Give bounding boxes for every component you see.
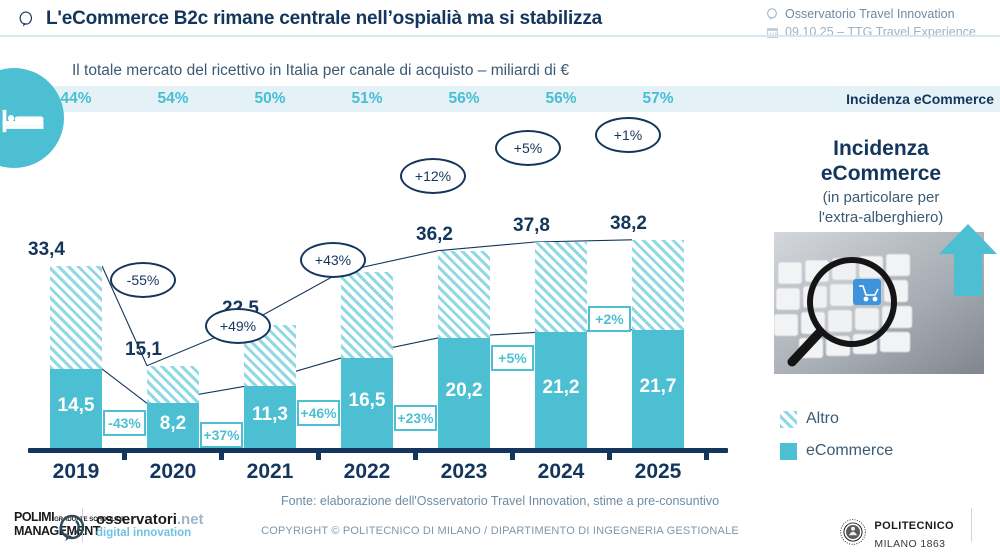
legend-item-ecommerce: eCommerce (780, 442, 893, 460)
bar-segment-altro (535, 242, 587, 332)
ecommerce-label-2023: 20,2 (438, 380, 490, 402)
bar-segment-altro (438, 251, 490, 338)
year-label-2020: 2020 (128, 460, 218, 484)
header: L'eCommerce B2c rimane centrale nell’osp… (0, 0, 1000, 36)
bar-segment-altro (632, 240, 684, 330)
total-growth-callout-2024-2025: +1% (595, 117, 661, 153)
ecommerce-label-2021: 11,3 (244, 404, 296, 426)
incidence-value-2023: 56% (419, 86, 509, 112)
politecnico-logo: POLITECNICO MILANO 1863 (839, 516, 954, 552)
year-label-2019: 2019 (31, 460, 121, 484)
tick-2021 (316, 453, 321, 460)
tick-2022 (413, 453, 418, 460)
right-panel-subtitle-line1: (in particolare per (762, 188, 1000, 208)
right-panel-title: Incidenza eCommerce (762, 136, 1000, 186)
bar-segment-altro (147, 366, 199, 404)
year-label-2023: 2023 (419, 460, 509, 484)
ecommerce-growth-2020-2021: +37% (200, 422, 243, 448)
osservatori-name: osservatori (96, 511, 177, 528)
bar-2020 (147, 366, 199, 448)
ecommerce-growth-2024-2025: +2% (588, 306, 631, 332)
bar-2021 (244, 325, 296, 448)
politecnico-line1: POLITECNICO (874, 520, 954, 532)
ecommerce-label-2025: 21,7 (632, 376, 684, 398)
meta-organization: Osservatorio Travel Innovation (766, 6, 996, 22)
meta-event: 09.10.25 – TTG Travel Experience (766, 24, 996, 40)
speech-bubble-icon (766, 8, 779, 21)
legend-swatch-hatch-icon (780, 411, 797, 428)
bar-2024 (535, 242, 587, 448)
bar-2025 (632, 240, 684, 448)
polimi-logo-line1: POLIMI (14, 510, 54, 524)
year-label-2021: 2021 (225, 460, 315, 484)
politecnico-line2: MILANO 1863 (874, 538, 945, 550)
tick-2019 (122, 453, 127, 460)
tick-2025 (704, 453, 709, 460)
meta-event-label: 09.10.25 – TTG Travel Experience (785, 24, 976, 40)
up-arrow-icon (937, 222, 999, 298)
legend-swatch-solid-icon (780, 443, 797, 460)
year-label-2024: 2024 (516, 460, 606, 484)
bar-segment-altro (341, 272, 393, 358)
bar-segment-altro (50, 266, 102, 369)
ecommerce-growth-2022-2023: +23% (394, 405, 437, 431)
ecommerce-growth-2019-2020: -43% (103, 410, 146, 436)
total-growth-callout-2019-2020: -55% (110, 262, 176, 298)
ecommerce-growth-2021-2022: +46% (297, 400, 340, 426)
bar-chart: 33,414,515,18,222,511,332,316,536,220,23… (0, 110, 760, 460)
chart-subtitle: Il totale mercato del ricettivo in Itali… (72, 62, 569, 80)
politecnico-seal-icon (839, 518, 867, 551)
tick-2020 (219, 453, 224, 460)
osservatori-net-suffix: .net (177, 511, 204, 528)
tick-2024 (607, 453, 612, 460)
right-panel-title-line1: Incidenza (762, 136, 1000, 161)
right-panel-title-line2: eCommerce (762, 161, 1000, 186)
bar-2023 (438, 251, 490, 448)
year-label-2025: 2025 (613, 460, 703, 484)
total-label-2019: 33,4 (28, 239, 124, 261)
total-label-2023: 36,2 (416, 224, 512, 246)
speech-bubble-icon (18, 11, 35, 28)
incidence-band-label: Incidenza eCommerce (846, 86, 994, 112)
legend-label-altro: Altro (806, 410, 839, 428)
total-label-2020: 15,1 (125, 339, 221, 361)
header-divider (0, 35, 1000, 37)
right-panel: Incidenza eCommerce (in particolare per … (762, 128, 1000, 458)
source-note: Fonte: elaborazione dell'Osservatorio Tr… (0, 494, 1000, 508)
total-growth-callout-2020-2021: +49% (205, 308, 271, 344)
chart-legend: Altro eCommerce (780, 410, 893, 474)
ecommerce-label-2022: 16,5 (341, 390, 393, 412)
legend-item-altro: Altro (780, 410, 893, 428)
total-growth-callout-2021-2022: +43% (300, 242, 366, 278)
ecommerce-growth-2023-2024: +5% (491, 345, 534, 371)
total-label-2024: 37,8 (513, 215, 609, 237)
incidence-value-2024: 56% (516, 86, 606, 112)
meta-organization-label: Osservatorio Travel Innovation (785, 6, 955, 22)
slide-root: L'eCommerce B2c rimane centrale nell’osp… (0, 0, 1000, 558)
bar-2022 (341, 272, 393, 448)
year-label-2022: 2022 (322, 460, 412, 484)
page-title: L'eCommerce B2c rimane centrale nell’osp… (46, 8, 602, 30)
ecommerce-label-2019: 14,5 (50, 395, 102, 417)
incidence-value-2025: 57% (613, 86, 703, 112)
x-axis (28, 448, 728, 453)
osservatori-tagline: digital innovation (96, 527, 204, 540)
tick-2023 (510, 453, 515, 460)
footer-divider-2 (971, 508, 972, 542)
total-label-2025: 38,2 (610, 213, 706, 235)
osservatori-mark-icon (58, 514, 88, 542)
total-growth-callout-2022-2023: +12% (400, 158, 466, 194)
incidence-value-2021: 50% (225, 86, 315, 112)
ecommerce-label-2024: 21,2 (535, 377, 587, 399)
total-growth-callout-2023-2024: +5% (495, 130, 561, 166)
ecommerce-label-2020: 8,2 (147, 413, 199, 435)
bar-2019 (50, 266, 102, 448)
incidence-value-2020: 54% (128, 86, 218, 112)
legend-label-ecommerce: eCommerce (806, 442, 893, 460)
incidence-value-2022: 51% (322, 86, 412, 112)
osservatori-logo: osservatori.net digital innovation (96, 512, 204, 540)
